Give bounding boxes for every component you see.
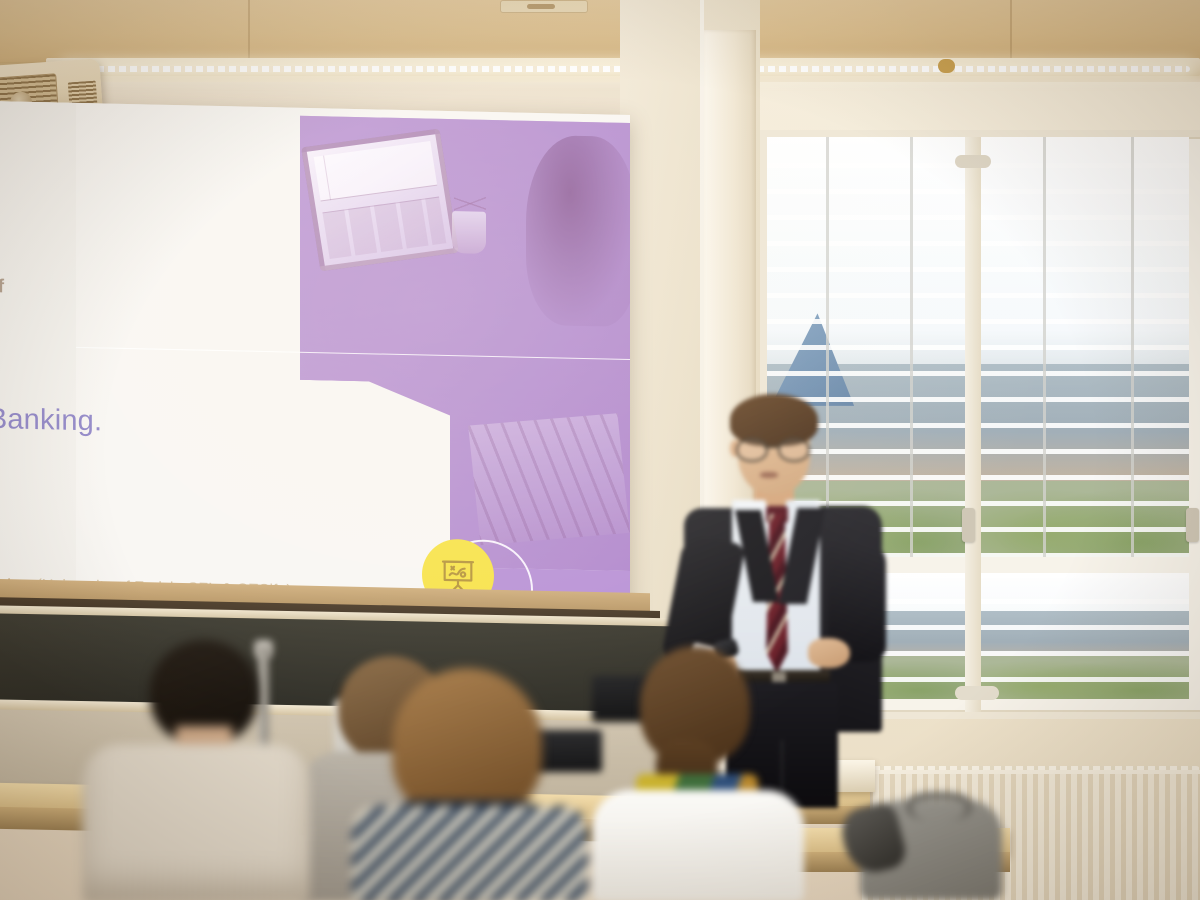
window-mullion xyxy=(965,137,981,712)
lens-left xyxy=(736,438,768,462)
torso xyxy=(592,790,804,900)
window-blinds[interactable] xyxy=(981,137,1189,557)
slide-title: g in Banking. xyxy=(0,402,102,439)
mouth xyxy=(760,472,778,478)
slide-content: of g in Banking. enda. ure h Basten (Uni… xyxy=(0,101,630,615)
light-fixture-knob xyxy=(938,59,955,73)
ceiling-seam xyxy=(248,0,250,62)
window-pane-lower-right xyxy=(981,573,1189,699)
ceiling-seam xyxy=(1010,0,1012,62)
window-handle-icon[interactable] xyxy=(1186,508,1199,542)
window-latch-icon[interactable] xyxy=(955,686,999,700)
glasses-bridge xyxy=(764,446,778,448)
hand-on-hip xyxy=(808,638,850,668)
blind-ladder-cord xyxy=(1043,137,1046,557)
wood-ceiling-panel xyxy=(0,0,1200,62)
lens-right xyxy=(778,438,810,462)
blind-ladder-cord xyxy=(1131,137,1134,557)
window-pane-right xyxy=(981,137,1189,557)
torso xyxy=(82,744,310,900)
slide-partial-line: of xyxy=(0,276,4,298)
head xyxy=(392,668,542,818)
window-handle-icon[interactable] xyxy=(962,508,975,542)
glasses-icon xyxy=(734,438,812,458)
window-blinds[interactable] xyxy=(981,573,1189,699)
window-latch-icon[interactable] xyxy=(955,155,991,168)
backpack-handle-icon xyxy=(906,792,972,821)
slide-text-layer: of g in Banking. enda. ure h Basten (Uni… xyxy=(0,101,630,615)
projection-screen: of g in Banking. enda. ure h Basten (Uni… xyxy=(0,101,630,615)
lecture-hall-scene: of g in Banking. enda. ure h Basten (Uni… xyxy=(0,0,1200,900)
torso xyxy=(352,806,588,900)
ceiling-vent-icon xyxy=(500,0,588,13)
